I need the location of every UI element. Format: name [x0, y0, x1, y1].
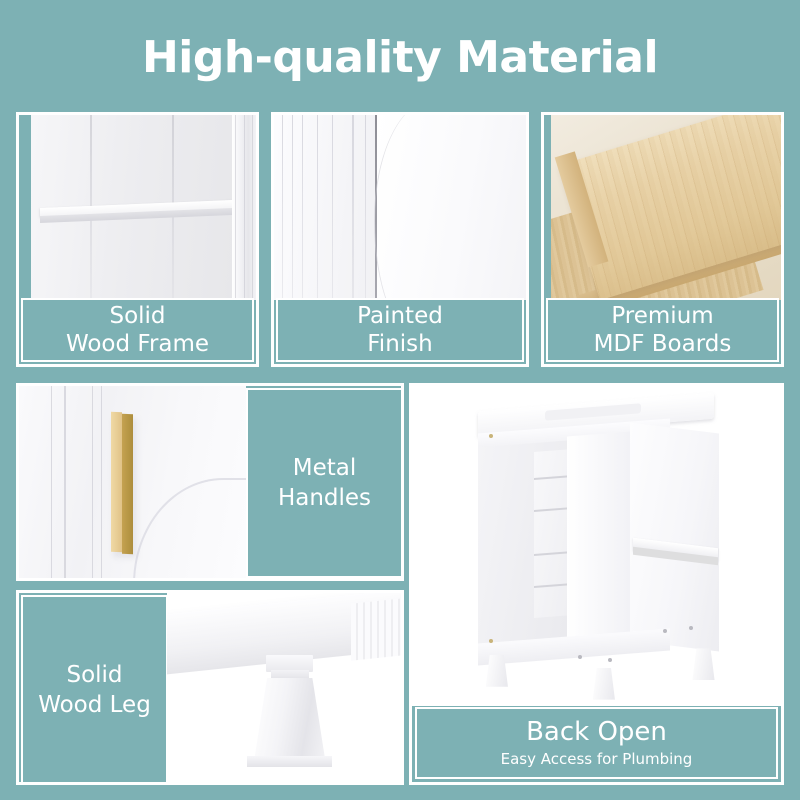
vanity-cabinet-illustration: [412, 386, 781, 706]
mdf-board-illustration: [551, 115, 781, 300]
handle-illustration: [19, 386, 246, 578]
label-line-2: Handles: [278, 483, 371, 513]
solid-wood-leg-label: Solid Wood Leg: [21, 595, 168, 784]
painted-finish-photo: [274, 115, 526, 300]
leg-illustration: [167, 593, 403, 782]
feature-panel-solid-wood-leg: Solid Wood Leg: [16, 590, 404, 785]
label-line-2: Wood Frame: [66, 330, 209, 358]
metal-handles-label: Metal Handles: [246, 388, 403, 578]
back-open-photo: [412, 386, 781, 706]
label-line-1: Back Open: [526, 716, 667, 748]
label-line-2: Finish: [367, 330, 432, 358]
premium-mdf-label: Premium MDF Boards: [546, 298, 779, 362]
premium-mdf-photo: [551, 115, 781, 300]
label-line-1: Premium: [611, 302, 713, 330]
back-open-label: Back Open Easy Access for Plumbing: [415, 707, 778, 779]
feature-panel-back-open: Back Open Easy Access for Plumbing: [409, 383, 784, 785]
solid-wood-leg-photo: [167, 593, 403, 782]
label-line-2: Wood Leg: [38, 690, 151, 720]
label-line-1: Painted: [357, 302, 443, 330]
frame-illustration: [31, 115, 259, 300]
label-line-2: MDF Boards: [594, 330, 732, 358]
label-line-1: Solid: [109, 302, 165, 330]
gold-handle: [111, 412, 133, 552]
metal-handles-photo: [19, 386, 246, 578]
label-sublabel: Easy Access for Plumbing: [501, 748, 693, 770]
feature-panel-metal-handles: Metal Handles: [16, 383, 404, 581]
feature-panel-painted-finish: Painted Finish: [271, 112, 529, 367]
solid-wood-frame-label: Solid Wood Frame: [21, 298, 254, 362]
painted-door-illustration: [274, 115, 526, 300]
label-line-1: Metal: [293, 453, 357, 483]
label-line-1: Solid: [66, 660, 122, 690]
feature-panel-solid-wood-frame: Solid Wood Frame: [16, 112, 259, 367]
solid-wood-frame-photo: [31, 115, 259, 300]
page-title: High-quality Material: [0, 30, 800, 86]
painted-finish-label: Painted Finish: [276, 298, 524, 362]
feature-panel-premium-mdf-boards: Premium MDF Boards: [541, 112, 784, 367]
